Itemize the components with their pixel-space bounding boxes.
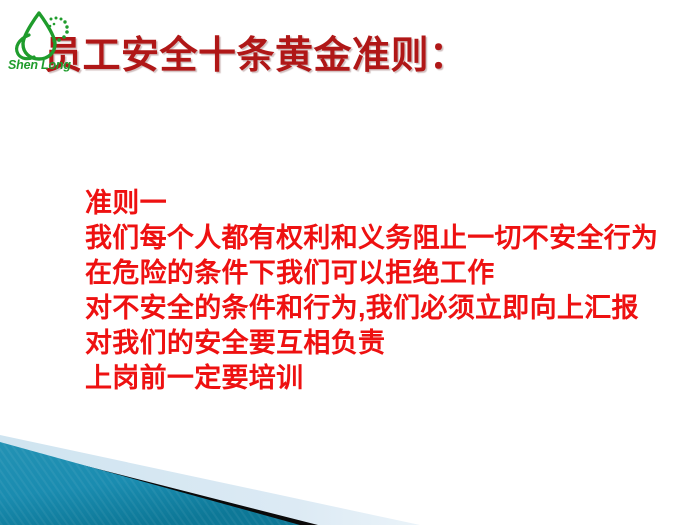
body-line: 对我们的安全要互相负责 [85, 326, 685, 361]
diagonal-corner-band [0, 430, 700, 525]
body-line: 上岗前一定要培训 [85, 361, 685, 396]
body-line: 我们每个人都有权利和义务阻止一切不安全行为 [85, 221, 685, 256]
body-line: 在危险的条件下我们可以拒绝工作 [85, 256, 685, 291]
slide-canvas: Shen Long 员工安全十条黄金准则： 准则一 我们每个人都有权利和义务阻止… [0, 0, 700, 525]
body-text-block: 准则一 我们每个人都有权利和义务阻止一切不安全行为 在危险的条件下我们可以拒绝工… [85, 186, 685, 396]
body-line: 准则一 [85, 186, 685, 221]
brand-logo: Shen Long [6, 8, 84, 80]
logo-wordmark: Shen Long [8, 58, 82, 72]
water-drop-logo-icon [6, 8, 84, 64]
page-title: 员工安全十条黄金准则： [44, 32, 664, 80]
body-line: 对不安全的条件和行为,我们必须立即向上汇报 [85, 291, 685, 326]
